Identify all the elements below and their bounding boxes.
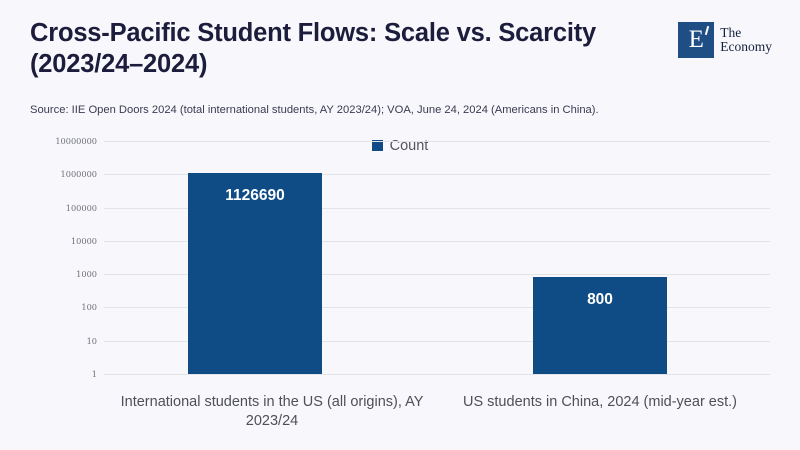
bar-chart: Count 10000000 1000000 100000 10000 1000… [0, 126, 800, 450]
ytick-label-100: 100 [81, 302, 97, 312]
gridline-1-baseline: 1 [104, 374, 770, 375]
chart-header: Cross-Pacific Student Flows: Scale vs. S… [0, 0, 800, 96]
logo-wordmark: The Economy [720, 26, 772, 55]
ytick-label-1000: 1000 [76, 269, 97, 279]
logo-tick-icon [705, 26, 709, 35]
logo-letter: E [689, 27, 704, 54]
xtick-label-international-students-us: International students in the US (all or… [101, 393, 443, 431]
source-note: Source: IIE Open Doors 2024 (total inter… [30, 104, 599, 116]
ytick-label-10000000: 10000000 [55, 136, 97, 146]
ytick-label-1000000: 1000000 [61, 169, 97, 179]
ytick-label-1: 1 [92, 369, 97, 379]
ytick-label-10000: 10000 [71, 236, 97, 246]
bar-us-students-china[interactable]: 800 [533, 277, 667, 374]
bar-international-students-us[interactable]: 1126690 [188, 173, 322, 374]
chart-page: Cross-Pacific Student Flows: Scale vs. S… [0, 0, 800, 450]
bar-value-label-1: 800 [533, 291, 667, 309]
gridline-10000000: 10000000 [104, 141, 770, 142]
plot-area: 10000000 1000000 100000 10000 1000 100 1… [104, 141, 770, 374]
ytick-label-100000: 100000 [66, 203, 97, 213]
logo-word-line2: Economy [720, 40, 772, 55]
brand-logo: E The Economy [678, 22, 772, 58]
page-title: Cross-Pacific Student Flows: Scale vs. S… [30, 18, 650, 80]
ytick-label-10: 10 [87, 336, 97, 346]
bar-value-label-0: 1126690 [188, 187, 322, 205]
logo-word-line1: The [720, 26, 772, 41]
logo-mark-icon: E [678, 22, 714, 58]
xtick-label-us-students-china: US students in China, 2024 (mid-year est… [430, 393, 770, 412]
